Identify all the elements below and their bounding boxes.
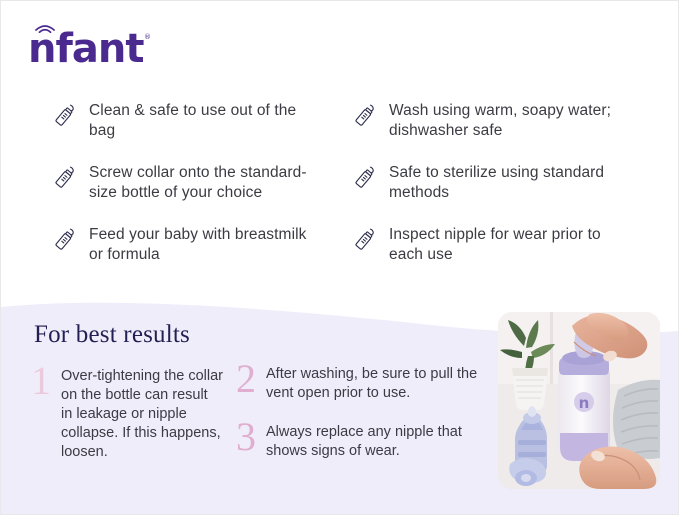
feature-text: Wash using warm, soapy water; dishwasher… <box>389 101 613 141</box>
feature-list-left: Clean & safe to use out of the bag Screw… <box>53 101 313 287</box>
tip-text: Over-tightening the collar on the bottle… <box>61 363 223 462</box>
brand-wordmark: nfant <box>28 29 143 69</box>
brand-logo: nfant ® <box>28 21 178 69</box>
tip-item: 3 Always replace any nipple that shows s… <box>236 419 491 461</box>
tip-text: Always replace any nipple that shows sig… <box>266 419 488 461</box>
trademark-symbol: ® <box>144 33 151 41</box>
feature-text: Screw collar onto the standard-size bott… <box>89 163 313 203</box>
feature-list-right: Wash using warm, soapy water; dishwasher… <box>353 101 613 287</box>
feature-item: Wash using warm, soapy water; dishwasher… <box>353 101 613 141</box>
feature-text: Feed your baby with breastmilk or formul… <box>89 225 313 265</box>
product-photo-illustration: n <box>498 312 660 489</box>
feature-item: Screw collar onto the standard-size bott… <box>53 163 313 203</box>
feature-text: Safe to sterilize using standard methods <box>389 163 613 203</box>
tip-item: 1 Over-tightening the collar on the bott… <box>31 363 226 462</box>
baby-bottle-icon <box>53 227 77 253</box>
best-results-panel: For best results 1 Over-tightening the c… <box>1 293 679 515</box>
tip-number: 3 <box>236 419 266 455</box>
tip-number: 1 <box>31 363 61 399</box>
product-info-graphic: nfant ® Clean & safe to use out of the b… <box>0 0 679 515</box>
baby-bottle-icon <box>353 227 377 253</box>
baby-bottle-icon <box>53 165 77 191</box>
feature-item: Inspect nipple for wear prior to each us… <box>353 225 613 265</box>
svg-text:n: n <box>579 394 590 412</box>
product-photo: n <box>498 312 660 489</box>
tip-number: 2 <box>236 361 266 397</box>
baby-bottle-icon <box>353 165 377 191</box>
baby-bottle-icon <box>353 103 377 129</box>
feature-item: Safe to sterilize using standard methods <box>353 163 613 203</box>
feature-text: Clean & safe to use out of the bag <box>89 101 313 141</box>
tip-item: 2 After washing, be sure to pull the ven… <box>236 361 491 403</box>
results-heading: For best results <box>34 321 190 349</box>
baby-bottle-icon <box>53 103 77 129</box>
feature-item: Feed your baby with breastmilk or formul… <box>53 225 313 265</box>
tip-text: After washing, be sure to pull the vent … <box>266 361 488 403</box>
feature-item: Clean & safe to use out of the bag <box>53 101 313 141</box>
feature-text: Inspect nipple for wear prior to each us… <box>389 225 613 265</box>
